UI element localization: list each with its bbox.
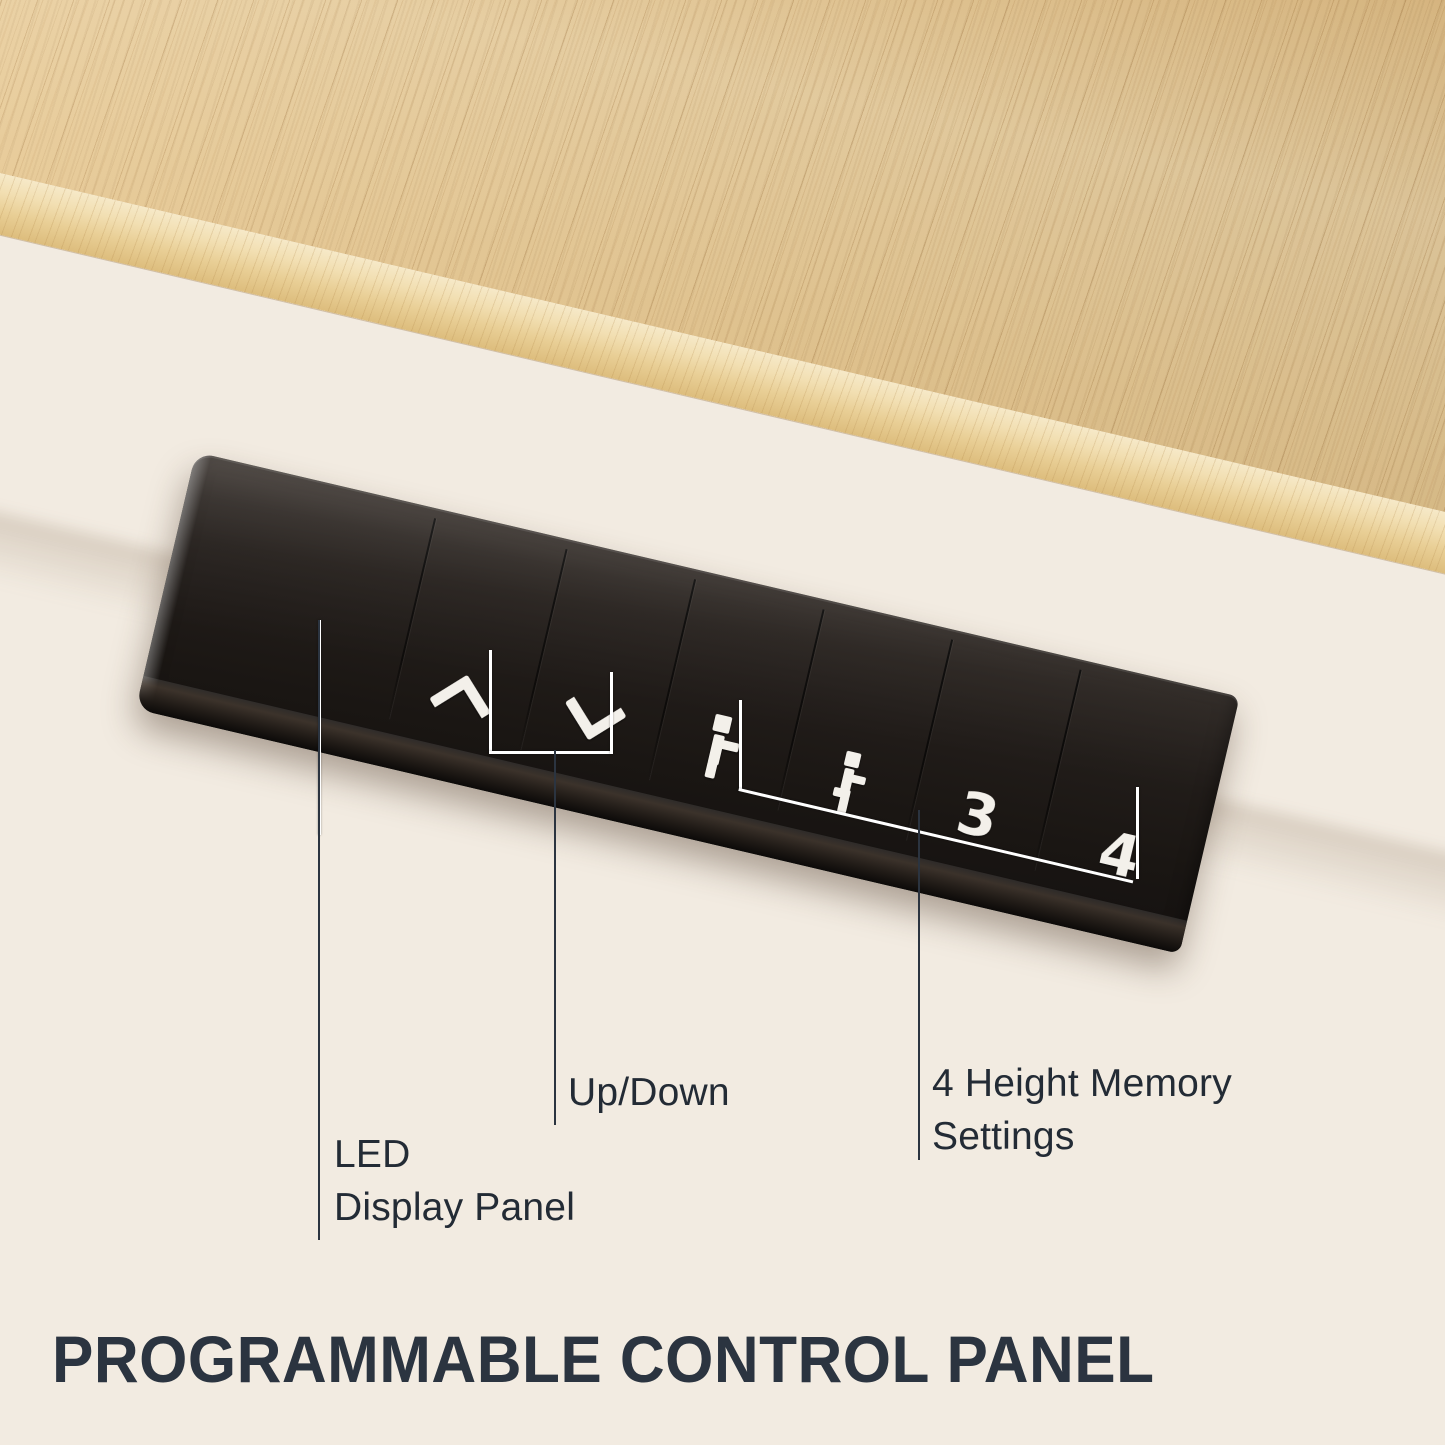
led-callout-label-line1: LED [334, 1131, 410, 1179]
preset-3-label: 3 [951, 782, 1004, 848]
memory-callout-label-line2: Settings [932, 1113, 1075, 1161]
memory-callout-label-line1: 4 Height Memory [932, 1060, 1232, 1108]
updown-callout-line [554, 750, 556, 1125]
memory-bracket-left [739, 700, 742, 791]
memory-callout-line [918, 810, 920, 1160]
control-panel-body: 3 4 [136, 452, 1240, 954]
led-callout-label-line2: Display Panel [334, 1184, 575, 1232]
control-panel: 3 4 [136, 452, 1240, 954]
product-scene: 3 4 LED Display Panel Up/Down 4 Height M… [0, 0, 1445, 1445]
updown-callout-label: Up/Down [568, 1069, 730, 1117]
updown-bracket-base [489, 751, 613, 754]
memory-bracket-right [1136, 787, 1139, 879]
down-leader-stem [610, 672, 613, 754]
page-title: PROGRAMMABLE CONTROL PANEL [52, 1321, 1155, 1397]
up-leader-stem [489, 650, 492, 754]
led-callout-line [318, 620, 320, 1240]
chevron-up-icon [434, 674, 491, 711]
